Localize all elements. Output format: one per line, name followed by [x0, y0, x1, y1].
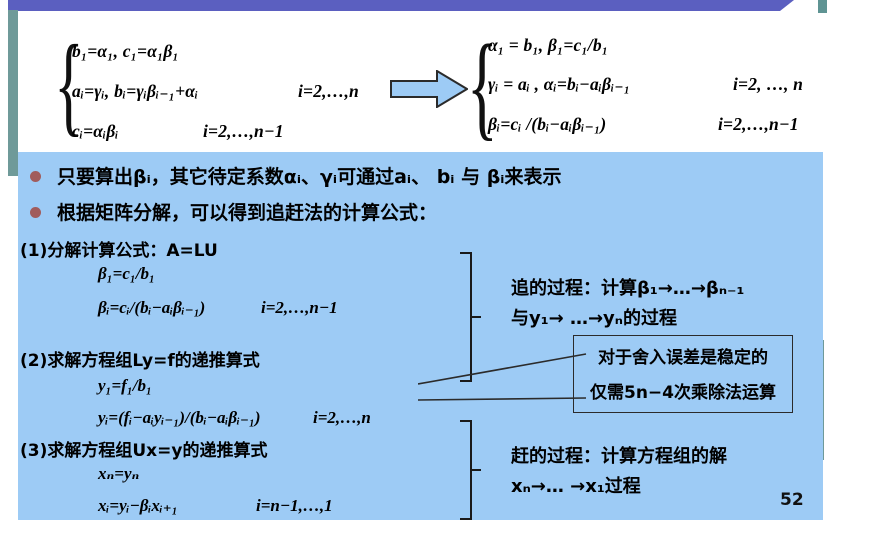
catch-group-brace — [460, 420, 482, 520]
left-eq-line-2: aᵢ=γᵢ, bᵢ=γᵢβᵢ₋₁+αᵢ — [72, 81, 198, 102]
right-eq-line-2: γᵢ = aᵢ , αᵢ=bᵢ−aᵢβᵢ₋₁ — [488, 74, 630, 95]
section-3-formula-2-index: i=n−1,…,1 — [256, 496, 333, 516]
right-eq-line-3-index: i=2,…,n−1 — [718, 114, 799, 135]
page-number: 52 — [780, 490, 804, 510]
left-eq-line-3-index: i=2,…,n−1 — [203, 121, 284, 142]
bullet-dot-icon — [30, 171, 41, 182]
bullet-dot-icon — [30, 207, 41, 218]
section-3-heading: (3)求解方程组Ux=y的递推算式 — [20, 436, 267, 461]
catch-annotation-line-2: xₙ→… →x₁过程 — [511, 472, 641, 498]
section-2-formula-2-index: i=2,…,n — [313, 408, 371, 428]
section-3-formula-2: xᵢ=yᵢ−βᵢxᵢ₊₁ — [98, 496, 178, 516]
section-3-formula-1: xₙ=yₙ — [98, 464, 139, 484]
bullet-item-1-label: 只要算出βᵢ，其它待定系数αᵢ、γᵢ可通过aᵢ、 bᵢ 与 βᵢ来表示 — [57, 162, 561, 189]
section-1-formula-1: β₁=c₁/b₁ — [98, 264, 155, 284]
bullet-item-2-label: 根据矩阵分解，可以得到追赶法的计算公式： — [57, 198, 437, 225]
chase-annotation-line-2: 与y₁→ …→yₙ的过程 — [511, 304, 677, 330]
left-eq-line-1: b₁=α₁, c₁=α₁β₁ — [72, 41, 179, 62]
content-body: 只要算出βᵢ，其它待定系数αᵢ、γᵢ可通过aᵢ、 bᵢ 与 βᵢ来表示 根据矩阵… — [18, 152, 823, 520]
stability-note-line-2: 仅需5n−4次乘除法运算 — [574, 378, 792, 403]
left-accent-bar — [8, 10, 18, 176]
chase-annotation-line-1: 追的过程：计算β₁→…→βₙ₋₁ — [511, 274, 744, 300]
section-1-heading: (1)分解计算公式：A=LU — [20, 236, 218, 261]
equation-panel: { b₁=α₁, c₁=α₁β₁ aᵢ=γᵢ, bᵢ=γᵢβᵢ₋₁+αᵢ i=2… — [18, 11, 818, 151]
right-eq-line-1: α₁ = b₁, β₁=c₁/b₁ — [488, 35, 608, 56]
section-1-formula-2-index: i=2,…,n−1 — [261, 298, 338, 318]
stability-note-box: 对于舍入误差是稳定的 仅需5n−4次乘除法运算 — [573, 335, 793, 413]
note-leader-lines — [418, 332, 588, 402]
right-accent-nub — [818, 0, 827, 13]
right-eq-line-2-index: i=2, …, n — [733, 74, 803, 95]
top-accent-bar — [8, 0, 780, 11]
left-eq-line-2-index: i=2,…,n — [298, 81, 359, 102]
stability-note-line-1: 对于舍入误差是稳定的 — [574, 343, 792, 368]
slide-canvas: { b₁=α₁, c₁=α₁β₁ aᵢ=γᵢ, bᵢ=γᵢβᵢ₋₁+αᵢ i=2… — [0, 0, 880, 542]
section-1-formula-2: βᵢ=cᵢ/(bᵢ−aᵢβᵢ₋₁) — [98, 298, 205, 318]
right-eq-line-3: βᵢ=cᵢ /(bᵢ−aᵢβᵢ₋₁) — [488, 114, 606, 135]
section-2-heading: (2)求解方程组Ly=f的递推算式 — [20, 346, 260, 371]
section-2-formula-1: y₁=f₁/b₁ — [98, 376, 152, 396]
left-eq-line-3: cᵢ=αᵢβᵢ — [72, 121, 119, 142]
block-arrow-right-icon — [390, 70, 468, 108]
catch-annotation-line-1: 赶的过程：计算方程组的解 — [511, 442, 727, 468]
section-2-formula-2: yᵢ=(fᵢ−aᵢyᵢ₋₁)/(bᵢ−aᵢβᵢ₋₁) — [98, 408, 261, 428]
